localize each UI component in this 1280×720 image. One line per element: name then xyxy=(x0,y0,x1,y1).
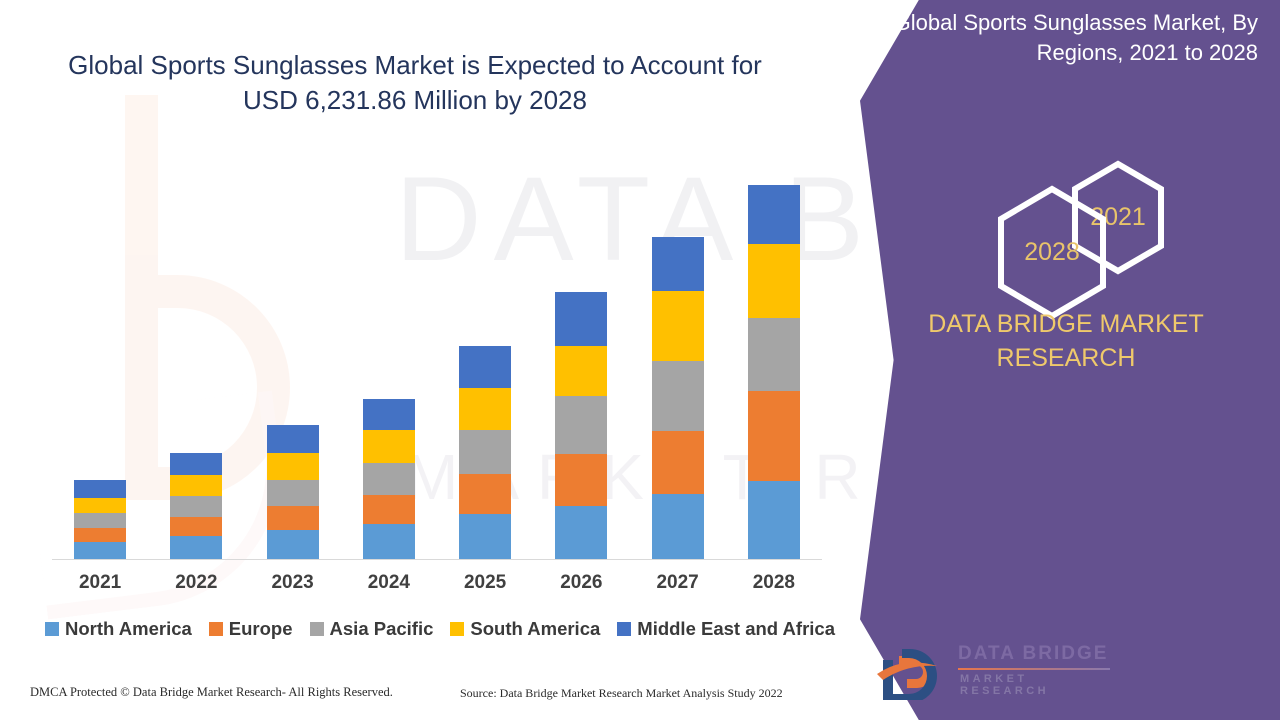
bar-segment xyxy=(555,396,607,454)
bar-column-2027 xyxy=(652,237,704,559)
bar-segment xyxy=(459,346,511,388)
legend-label: Middle East and Africa xyxy=(637,618,835,640)
legend-swatch-icon xyxy=(310,622,324,636)
legend-label: North America xyxy=(65,618,192,640)
logo-divider xyxy=(958,668,1110,670)
x-axis-label-2025: 2025 xyxy=(450,572,520,594)
legend-label: South America xyxy=(470,618,600,640)
chart-legend: North AmericaEuropeAsia PacificSouth Ame… xyxy=(55,615,825,643)
brand-name: DATA BRIDGE MARKET RESEARCH xyxy=(880,308,1252,376)
bar-segment xyxy=(74,528,126,542)
bar-segment xyxy=(748,244,800,318)
hexagon-2028: 2028 xyxy=(993,185,1111,320)
stacked-bar-chart xyxy=(52,160,822,560)
bar-segment xyxy=(363,524,415,559)
bar-column-2021 xyxy=(74,480,126,559)
bar-segment xyxy=(74,498,126,513)
bar-segment xyxy=(555,454,607,506)
legend-swatch-icon xyxy=(617,622,631,636)
bar-segment xyxy=(267,506,319,530)
bar-segment xyxy=(363,399,415,430)
bar-segment xyxy=(170,517,222,536)
bar-segment xyxy=(459,388,511,430)
bar-segment xyxy=(459,430,511,474)
bar-segment xyxy=(555,292,607,346)
bar-segment xyxy=(652,494,704,559)
x-axis-label-2028: 2028 xyxy=(739,572,809,594)
bar-segment xyxy=(363,430,415,463)
legend-item-europe[interactable]: Europe xyxy=(209,618,293,640)
panel-title: Global Sports Sunglasses Market, By Regi… xyxy=(882,8,1258,69)
legend-item-asia-pacific[interactable]: Asia Pacific xyxy=(310,618,434,640)
bar-segment xyxy=(74,513,126,528)
poster-root: DATA BRIDGE MARKET RESEARCH Global Sport… xyxy=(0,0,1280,720)
bar-segment xyxy=(555,506,607,559)
bar-segment xyxy=(363,463,415,495)
bar-segment xyxy=(652,361,704,431)
footer-source: Source: Data Bridge Market Research Mark… xyxy=(460,686,783,701)
logo-name-sub: MARKET RESEARCH xyxy=(960,673,1120,697)
x-axis-label-2026: 2026 xyxy=(546,572,616,594)
x-axis-label-2027: 2027 xyxy=(643,572,713,594)
bar-column-2026 xyxy=(555,292,607,559)
legend-item-middle-east-and-africa[interactable]: Middle East and Africa xyxy=(617,618,835,640)
bar-segment xyxy=(652,237,704,291)
legend-item-south-america[interactable]: South America xyxy=(450,618,600,640)
bar-column-2022 xyxy=(170,453,222,559)
bar-segment xyxy=(267,453,319,480)
legend-item-north-america[interactable]: North America xyxy=(45,618,192,640)
bar-segment xyxy=(459,474,511,514)
x-axis-line xyxy=(52,559,822,560)
bar-column-2025 xyxy=(459,346,511,559)
x-axis-label-2023: 2023 xyxy=(258,572,328,594)
chart-panel: DATA BRIDGE MARKET RESEARCH Global Sport… xyxy=(0,0,980,720)
brand-panel: Global Sports Sunglasses Market, By Regi… xyxy=(860,0,1280,720)
legend-swatch-icon xyxy=(45,622,59,636)
x-axis-label-2022: 2022 xyxy=(161,572,231,594)
data-bridge-logo-mark xyxy=(875,630,953,700)
bar-column-2023 xyxy=(267,425,319,559)
legend-swatch-icon xyxy=(450,622,464,636)
x-axis-labels: 20212022202320242025202620272028 xyxy=(52,572,822,602)
bar-segment xyxy=(170,536,222,559)
bar-column-2028 xyxy=(748,185,800,559)
bar-segment xyxy=(748,318,800,391)
legend-label: Europe xyxy=(229,618,293,640)
bar-segment xyxy=(748,391,800,481)
bar-column-2024 xyxy=(363,399,415,559)
x-axis-label-2024: 2024 xyxy=(354,572,424,594)
bar-segment xyxy=(170,475,222,496)
bar-segment xyxy=(74,480,126,498)
footer-copyright: DMCA Protected © Data Bridge Market Rese… xyxy=(30,685,393,700)
bar-segment xyxy=(459,514,511,559)
legend-label: Asia Pacific xyxy=(330,618,434,640)
data-bridge-logo: DATA BRIDGE MARKET RESEARCH xyxy=(870,625,1120,710)
bar-segment xyxy=(748,185,800,244)
bar-segment xyxy=(267,530,319,559)
page-title: Global Sports Sunglasses Market is Expec… xyxy=(55,48,775,117)
x-axis-label-2021: 2021 xyxy=(65,572,135,594)
logo-name-main: DATA BRIDGE xyxy=(958,643,1108,665)
bar-segment xyxy=(267,480,319,506)
bar-segment xyxy=(170,453,222,475)
chart-plot-area xyxy=(52,160,822,560)
bar-segment xyxy=(748,481,800,559)
bar-segment xyxy=(170,496,222,517)
hexagon-2028-label: 2028 xyxy=(993,185,1111,320)
bar-segment xyxy=(267,425,319,453)
bar-segment xyxy=(555,346,607,396)
bar-segment xyxy=(74,542,126,559)
bar-segment xyxy=(652,431,704,494)
legend-swatch-icon xyxy=(209,622,223,636)
bar-segment xyxy=(652,291,704,361)
bar-segment xyxy=(363,495,415,524)
